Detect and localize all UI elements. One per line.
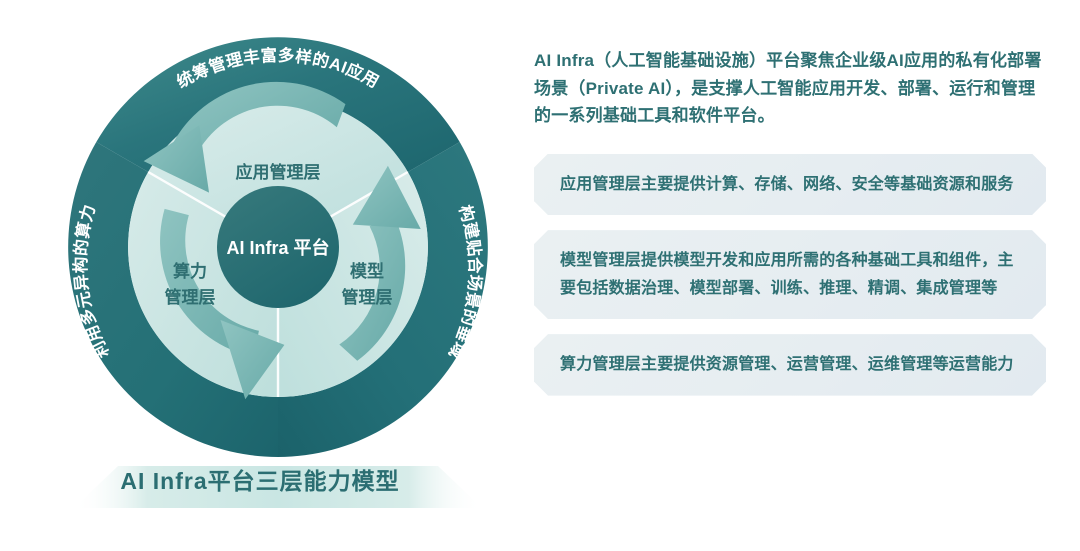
core-label: AI Infra 平台 [226,237,329,258]
sector-label-compute-line1: 算力 [172,261,207,281]
sector-label-compute-line2: 管理层 [165,287,216,307]
card-application-layer: 应用管理层主要提供计算、存储、网络、安全等基础资源和服务 [534,154,1046,216]
capability-model-diagram: 统筹管理丰富多样的AI应用 高效利用多元异构的算力资源 快速构建贴合场景的垂域模… [0,0,520,551]
card-model-layer-text: 模型管理层提供模型开发和应用所需的各种基础工具和组件，主要包括数据治理、模型部署… [560,247,1024,302]
card-compute-layer-text: 算力管理层主要提供资源管理、运营管理、运维管理等运营能力 [560,351,1024,379]
sector-label-model-line1: 模型 [350,261,384,281]
sector-label-application: 应用管理层 [236,162,321,182]
infographic-root: 统筹管理丰富多样的AI应用 高效利用多元异构的算力资源 快速构建贴合场景的垂域模… [0,0,1080,551]
lead-paragraph: AI Infra（人工智能基础设施）平台聚焦企业级AI应用的私有化部署场景（Pr… [534,47,1042,130]
banner-title: AI Infra平台三层能力模型 [0,470,520,493]
sector-label-model-line2: 管理层 [342,287,393,307]
card-model-layer: 模型管理层提供模型开发和应用所需的各种基础工具和组件，主要包括数据治理、模型部署… [534,230,1046,319]
card-application-layer-text: 应用管理层主要提供计算、存储、网络、安全等基础资源和服务 [560,171,1024,199]
card-compute-layer: 算力管理层主要提供资源管理、运营管理、运维管理等运营能力 [534,334,1046,396]
description-pane: AI Infra（人工智能基础设施）平台聚焦企业级AI应用的私有化部署场景（Pr… [520,0,1080,551]
